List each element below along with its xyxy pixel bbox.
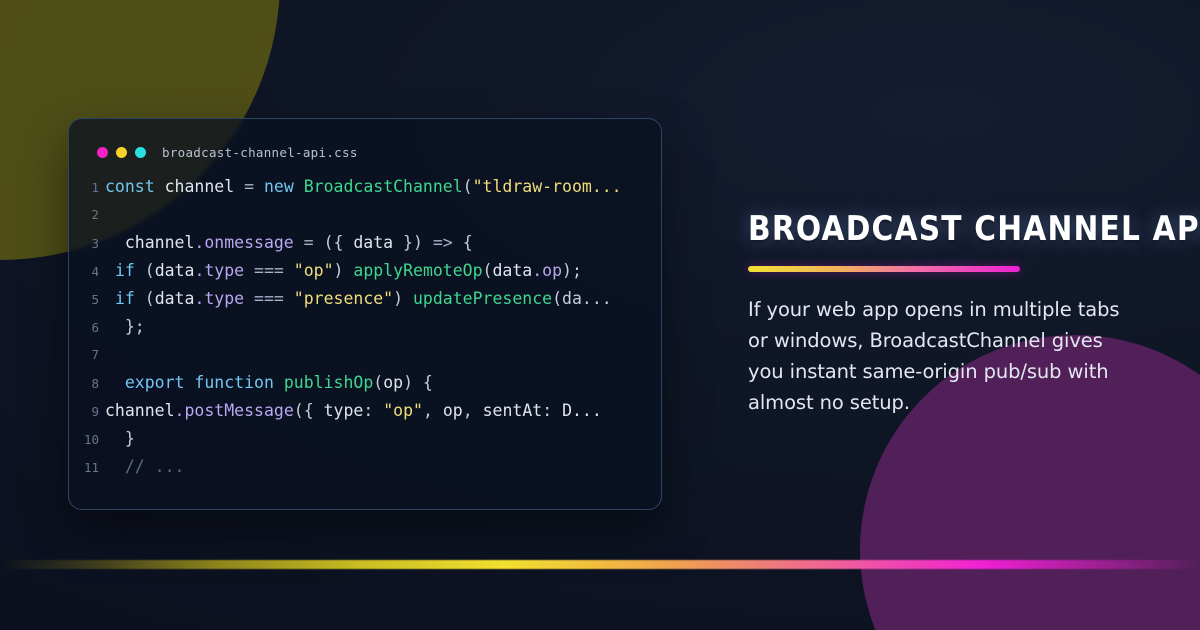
code-token: "tldraw-room... — [473, 177, 622, 196]
line-content: // ... — [105, 453, 661, 481]
line-content: channel.postMessage({ type: "op", op, se… — [105, 397, 661, 425]
code-token: data — [492, 261, 532, 280]
line-number: 10 — [69, 426, 105, 453]
code-token — [294, 177, 304, 196]
line-number: 6 — [69, 314, 105, 341]
code-token: } — [105, 429, 135, 448]
code-token: ( — [135, 289, 155, 308]
line-number: 9 — [69, 398, 105, 425]
code-token: (da... — [552, 289, 612, 308]
code-token: ) { — [403, 373, 433, 392]
line-number: 2 — [69, 201, 105, 229]
code-token: const — [105, 177, 155, 196]
line-content: const channel = new BroadcastChannel("tl… — [105, 173, 661, 201]
line-content: }; — [105, 313, 661, 341]
content-panel: BROADCAST CHANNEL API If your web app op… — [748, 212, 1140, 418]
code-token: // ... — [105, 457, 184, 476]
code-token — [274, 373, 284, 392]
code-token: }; — [105, 317, 145, 336]
code-line: 7 — [69, 341, 661, 369]
code-line: 8 export function publishOp(op) { — [69, 369, 661, 397]
code-token: => — [433, 233, 463, 252]
minimize-dot-icon[interactable] — [116, 147, 127, 158]
code-window-titlebar: broadcast-channel-api.css — [69, 119, 661, 167]
code-token: new — [264, 177, 294, 196]
code-token: if — [115, 289, 135, 308]
code-listing: 1const channel = new BroadcastChannel("t… — [69, 167, 661, 481]
code-token: data — [155, 289, 195, 308]
line-content: if (data.type === "op") applyRemoteOp(da… — [105, 257, 661, 285]
code-token: ); — [562, 261, 582, 280]
code-token: publishOp — [284, 373, 373, 392]
code-window: broadcast-channel-api.css 1const channel… — [68, 118, 662, 510]
code-token: updatePresence — [413, 289, 552, 308]
code-line: 4 if (data.type === "op") applyRemoteOp(… — [69, 257, 661, 285]
line-content: if (data.type === "presence") updatePres… — [105, 285, 661, 313]
code-token: === — [244, 289, 294, 308]
code-token — [155, 177, 165, 196]
line-number: 1 — [69, 174, 105, 201]
code-token: D... — [562, 401, 602, 420]
code-token: }) — [393, 233, 433, 252]
code-token: === — [244, 261, 294, 280]
code-token: op — [383, 373, 403, 392]
code-line: 11 // ... — [69, 453, 661, 481]
code-line: 9channel.postMessage({ type: "op", op, s… — [69, 397, 661, 425]
code-token: .type — [194, 261, 244, 280]
code-token: data — [353, 233, 393, 252]
code-token: channel — [105, 233, 194, 252]
code-line: 10 } — [69, 425, 661, 453]
code-filename-label: broadcast-channel-api.css — [162, 145, 358, 160]
code-token: ( — [135, 261, 155, 280]
code-token: ( — [373, 373, 383, 392]
code-line: 3 channel.onmessage = ({ data }) => { — [69, 229, 661, 257]
code-token: sentAt — [483, 401, 543, 420]
code-token: ( — [463, 177, 473, 196]
code-token: applyRemoteOp — [353, 261, 482, 280]
code-token: op — [443, 401, 463, 420]
code-line: 2 — [69, 201, 661, 229]
line-number: 8 — [69, 370, 105, 397]
code-token: , — [423, 401, 443, 420]
code-token: function — [194, 373, 273, 392]
code-token: ({ — [324, 233, 354, 252]
line-content: export function publishOp(op) { — [105, 369, 661, 397]
code-token — [184, 373, 194, 392]
code-token: = — [294, 233, 324, 252]
bottom-gradient-rule — [0, 560, 1200, 569]
accent-divider — [748, 266, 1020, 272]
code-token: "presence" — [294, 289, 393, 308]
code-token — [105, 261, 115, 280]
code-token: ) — [334, 261, 354, 280]
code-token: ( — [483, 261, 493, 280]
code-token: : — [542, 401, 562, 420]
code-token: export — [125, 373, 185, 392]
code-token: type — [324, 401, 364, 420]
line-number: 4 — [69, 258, 105, 285]
code-token: = — [234, 177, 264, 196]
line-number: 7 — [69, 341, 105, 369]
code-token: ) — [393, 289, 413, 308]
code-token — [105, 373, 125, 392]
code-line: 6 }; — [69, 313, 661, 341]
page-title: BROADCAST CHANNEL API — [748, 212, 1136, 247]
code-token: .type — [194, 289, 244, 308]
code-token: , — [463, 401, 483, 420]
code-token: data — [155, 261, 195, 280]
description-text: If your web app opens in multiple tabs o… — [748, 294, 1120, 418]
code-token: .postMessage — [175, 401, 294, 420]
maximize-dot-icon[interactable] — [135, 147, 146, 158]
code-token: "op" — [383, 401, 423, 420]
line-number: 11 — [69, 454, 105, 481]
line-number: 3 — [69, 230, 105, 257]
code-token: { — [463, 233, 473, 252]
line-content: channel.onmessage = ({ data }) => { — [105, 229, 661, 257]
code-token: "op" — [294, 261, 334, 280]
close-dot-icon[interactable] — [97, 147, 108, 158]
code-token: channel — [165, 177, 235, 196]
code-line: 5 if (data.type === "presence") updatePr… — [69, 285, 661, 313]
line-content: } — [105, 425, 661, 453]
code-line: 1const channel = new BroadcastChannel("t… — [69, 173, 661, 201]
code-token: channel — [105, 401, 175, 420]
code-token: if — [115, 261, 135, 280]
code-token: .op — [532, 261, 562, 280]
code-token — [105, 289, 115, 308]
code-token: .onmessage — [194, 233, 293, 252]
code-token: BroadcastChannel — [304, 177, 463, 196]
line-number: 5 — [69, 286, 105, 313]
code-token: ({ — [294, 401, 324, 420]
code-token: : — [363, 401, 383, 420]
social-card-canvas: broadcast-channel-api.css 1const channel… — [0, 0, 1200, 630]
